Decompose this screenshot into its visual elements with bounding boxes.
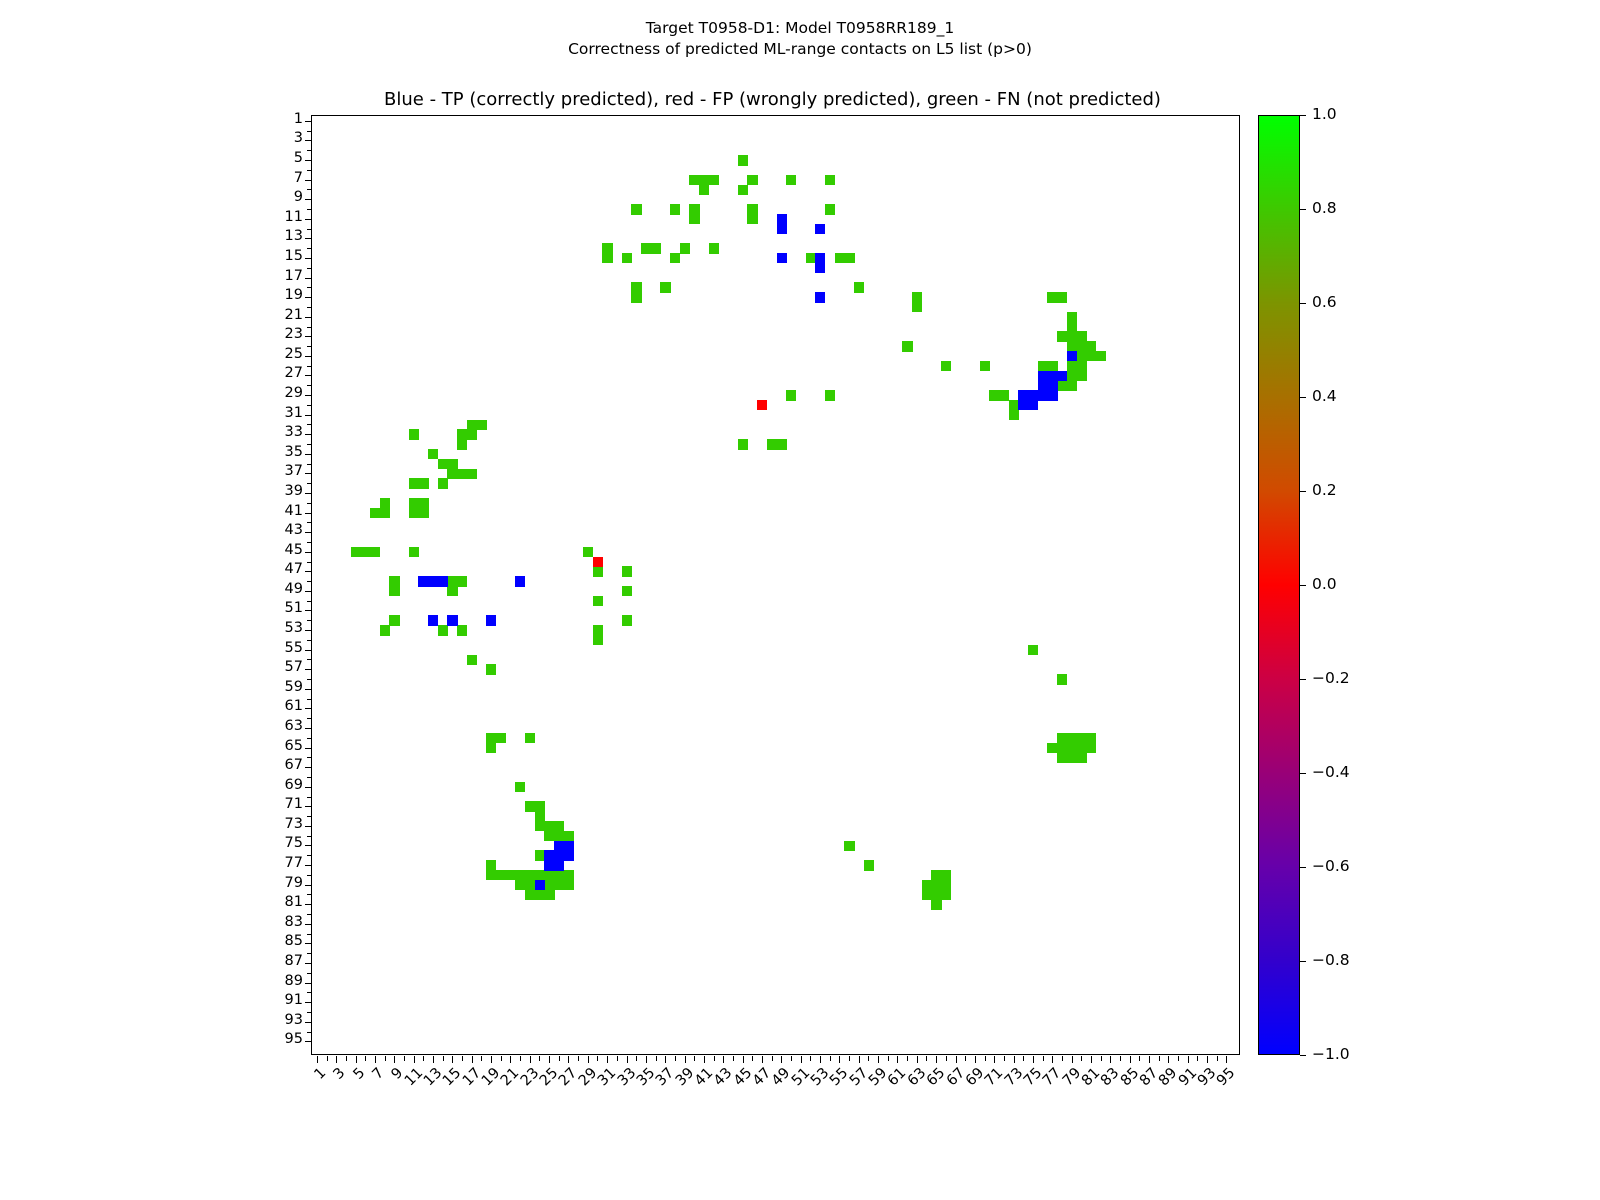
x-tick [1014, 1056, 1015, 1063]
x-tick [1120, 1056, 1121, 1061]
y-tick [305, 336, 312, 337]
x-tick [501, 1056, 502, 1061]
colorbar-tick [1300, 115, 1306, 116]
y-tick [305, 708, 312, 709]
y-tick [305, 1002, 312, 1003]
y-tick [305, 532, 312, 533]
x-tick [1226, 1056, 1227, 1063]
y-tick [305, 806, 312, 807]
cell-fn-green [380, 508, 390, 518]
cell-fn-green [1057, 292, 1067, 302]
y-tick-label: 65 [233, 738, 303, 754]
y-tick [307, 1032, 312, 1033]
x-tick [327, 1056, 328, 1061]
y-tick [307, 855, 312, 856]
y-tick [305, 983, 312, 984]
x-tick [772, 1056, 773, 1061]
cell-tp-blue [486, 615, 496, 625]
x-tick [549, 1056, 550, 1063]
y-tick-label: 95 [233, 1031, 303, 1047]
cell-fn-green [457, 625, 467, 635]
cell-fn-green [689, 214, 699, 224]
colorbar-tick-label: −0.6 [1312, 857, 1350, 875]
x-tick [627, 1056, 628, 1063]
x-tick [665, 1056, 666, 1063]
cell-fn-green [1067, 380, 1077, 390]
cell-tp-blue [815, 292, 825, 302]
y-tick-label: 29 [233, 385, 303, 401]
x-tick [375, 1056, 376, 1063]
y-tick [305, 199, 312, 200]
colorbar: 1.00.80.60.40.20.0−0.2−0.4−0.6−0.8−1.0 [1258, 115, 1300, 1055]
y-tick [307, 953, 312, 954]
y-tick [305, 513, 312, 514]
x-tick [752, 1056, 753, 1061]
cell-fn-green [602, 253, 612, 263]
cell-fn-green [622, 615, 632, 625]
y-tick [307, 914, 312, 915]
y-tick [305, 767, 312, 768]
cell-tp-blue [554, 860, 564, 870]
cell-fn-green [457, 576, 467, 586]
contact-map-figure: Target T0958-D1: Model T0958RR189_1 Corr… [0, 0, 1600, 1200]
cell-fn-green [844, 253, 854, 263]
cell-tp-blue [438, 576, 448, 586]
y-tick-label: 25 [233, 346, 303, 362]
y-tick [305, 1041, 312, 1042]
y-tick [307, 542, 312, 543]
cell-fn-green [1076, 371, 1086, 381]
cell-fn-green [854, 282, 864, 292]
y-tick [307, 581, 312, 582]
y-tick-label: 59 [233, 679, 303, 695]
y-tick-label: 79 [233, 875, 303, 891]
x-tick [568, 1056, 569, 1063]
cell-fn-green [941, 890, 951, 900]
x-tick [956, 1056, 957, 1063]
y-tick [307, 797, 312, 798]
x-tick [510, 1056, 511, 1063]
y-tick [307, 992, 312, 993]
cell-fn-green [864, 860, 874, 870]
x-tick [694, 1056, 695, 1061]
x-tick [1004, 1056, 1005, 1061]
y-tick [305, 748, 312, 749]
y-tick [305, 650, 312, 651]
cell-fn-green [622, 586, 632, 596]
x-tick [1139, 1056, 1140, 1061]
cell-tp-blue [428, 615, 438, 625]
x-tick [607, 1056, 608, 1063]
x-tick [1197, 1056, 1198, 1061]
x-tick [926, 1056, 927, 1061]
y-tick [305, 219, 312, 220]
x-tick [704, 1056, 705, 1063]
x-tick [481, 1056, 482, 1061]
cell-tp-blue [1067, 351, 1077, 361]
y-tick-label: 5 [233, 150, 303, 166]
y-tick-label: 11 [233, 209, 303, 225]
cell-fn-green [651, 243, 661, 253]
cell-tp-blue [777, 224, 787, 234]
cell-fp-red [593, 557, 603, 567]
colorbar-tick [1300, 867, 1306, 868]
colorbar-tick [1300, 961, 1306, 962]
x-tick [656, 1056, 657, 1061]
x-tick [685, 1056, 686, 1063]
x-tick [462, 1056, 463, 1061]
y-tick-label: 23 [233, 326, 303, 342]
x-tick [1188, 1056, 1189, 1063]
y-tick [307, 248, 312, 249]
title-line-1: Target T0958-D1: Model T0958RR189_1 [0, 18, 1600, 39]
x-tick [907, 1056, 908, 1061]
y-tick [307, 894, 312, 895]
y-tick [307, 640, 312, 641]
y-tick-label: 45 [233, 542, 303, 558]
y-tick-label: 7 [233, 170, 303, 186]
y-tick [307, 679, 312, 680]
y-tick [305, 356, 312, 357]
colorbar-tick-label: 0.8 [1312, 199, 1337, 217]
x-tick [1149, 1056, 1150, 1063]
x-tick [404, 1056, 405, 1061]
y-tick-label: 21 [233, 307, 303, 323]
x-tick [1178, 1056, 1179, 1061]
y-tick [305, 140, 312, 141]
x-tick [1130, 1056, 1131, 1063]
cell-fn-green [593, 635, 603, 645]
x-tick [1159, 1056, 1160, 1061]
y-tick-label: 17 [233, 268, 303, 284]
cell-fn-green [409, 547, 419, 557]
y-tick [305, 297, 312, 298]
cell-fn-green [941, 361, 951, 371]
cell-tp-blue [1028, 400, 1038, 410]
x-tick [985, 1056, 986, 1061]
y-tick [307, 209, 312, 210]
y-tick [305, 924, 312, 925]
x-tick [888, 1056, 889, 1061]
x-tick [472, 1056, 473, 1063]
y-tick [307, 307, 312, 308]
x-tick [385, 1056, 386, 1061]
x-tick [539, 1056, 540, 1061]
x-tick [781, 1056, 782, 1063]
cell-fn-green [670, 253, 680, 263]
colorbar-tick-label: 0.0 [1312, 575, 1337, 593]
colorbar-tick [1300, 679, 1306, 680]
y-tick [307, 189, 312, 190]
y-tick-label: 61 [233, 698, 303, 714]
x-tick [1168, 1056, 1169, 1063]
y-tick [305, 845, 312, 846]
y-tick-label: 53 [233, 620, 303, 636]
x-tick [433, 1056, 434, 1063]
y-tick [305, 904, 312, 905]
y-tick [305, 787, 312, 788]
cell-fn-green [844, 841, 854, 851]
y-tick-label: 39 [233, 483, 303, 499]
y-tick [307, 327, 312, 328]
x-tick [878, 1056, 879, 1063]
y-tick [307, 503, 312, 504]
y-tick-label: 83 [233, 914, 303, 930]
cell-fn-green [544, 890, 554, 900]
y-tick-label: 87 [233, 953, 303, 969]
y-tick [305, 121, 312, 122]
plot-area[interactable] [311, 115, 1240, 1055]
y-tick [305, 552, 312, 553]
cell-tp-blue [1047, 390, 1057, 400]
x-tick [723, 1056, 724, 1063]
y-tick [307, 601, 312, 602]
cell-fn-green [1076, 752, 1086, 762]
y-tick [307, 522, 312, 523]
x-tick [491, 1056, 492, 1063]
y-tick [307, 973, 312, 974]
colorbar-tick-label: 0.6 [1312, 293, 1337, 311]
x-tick [1072, 1056, 1073, 1063]
x-tick [839, 1056, 840, 1063]
cell-tp-blue [1057, 371, 1067, 381]
y-tick-label: 31 [233, 405, 303, 421]
y-tick-label: 77 [233, 855, 303, 871]
y-tick-label: 3 [233, 130, 303, 146]
cell-tp-blue [815, 263, 825, 273]
cell-fn-green [747, 214, 757, 224]
x-tick [965, 1056, 966, 1061]
y-tick [305, 180, 312, 181]
x-tick [1091, 1056, 1092, 1063]
cell-fn-green [467, 655, 477, 665]
x-tick [597, 1056, 598, 1061]
x-tick [743, 1056, 744, 1063]
y-tick [307, 346, 312, 347]
cell-fn-green [825, 204, 835, 214]
x-tick [791, 1056, 792, 1061]
cell-fn-green [418, 508, 428, 518]
cell-fn-green [902, 341, 912, 351]
y-tick [305, 493, 312, 494]
y-tick-label: 43 [233, 522, 303, 538]
x-tick [1033, 1056, 1034, 1063]
y-tick [307, 777, 312, 778]
cell-fn-green [467, 469, 477, 479]
cell-fn-green [438, 478, 448, 488]
y-tick-label: 49 [233, 581, 303, 597]
cell-fn-green [389, 615, 399, 625]
cell-fn-green [1028, 645, 1038, 655]
x-tick [520, 1056, 521, 1061]
x-tick [859, 1056, 860, 1063]
x-tick [578, 1056, 579, 1061]
cell-fn-green [709, 243, 719, 253]
cell-fn-green [699, 185, 709, 195]
cell-fn-green [477, 420, 487, 430]
y-tick [307, 170, 312, 171]
y-tick [307, 424, 312, 425]
x-tick [820, 1056, 821, 1063]
colorbar-tick [1300, 773, 1306, 774]
x-tick [617, 1056, 618, 1061]
x-tick [443, 1056, 444, 1061]
cell-fp-red [757, 400, 767, 410]
x-tick [636, 1056, 637, 1061]
title-line-2: Correctness of predicted ML-range contac… [0, 39, 1600, 60]
cell-fn-green [486, 664, 496, 674]
cell-tp-blue [777, 253, 787, 263]
cell-fn-green [380, 625, 390, 635]
cell-fn-green [670, 204, 680, 214]
cell-fn-green [622, 253, 632, 263]
cell-fn-green [486, 743, 496, 753]
cell-fn-green [389, 586, 399, 596]
x-tick [936, 1056, 937, 1063]
cell-fn-green [738, 439, 748, 449]
cell-tp-blue [447, 615, 457, 625]
x-tick [830, 1056, 831, 1061]
y-tick [305, 689, 312, 690]
x-tick [559, 1056, 560, 1061]
cell-fn-green [912, 302, 922, 312]
y-tick-label: 93 [233, 1012, 303, 1028]
x-tick [1052, 1056, 1053, 1063]
cell-fn-green [786, 175, 796, 185]
y-tick [307, 699, 312, 700]
y-tick-label: 69 [233, 777, 303, 793]
cell-fn-green [747, 175, 757, 185]
y-tick [305, 454, 312, 455]
colorbar-tick-label: 0.4 [1312, 387, 1337, 405]
cell-fn-green [457, 439, 467, 449]
cell-tp-blue [535, 880, 545, 890]
colorbar-tick-label: −0.8 [1312, 951, 1350, 969]
y-tick [305, 238, 312, 239]
x-tick [762, 1056, 763, 1063]
y-tick [305, 728, 312, 729]
y-tick-label: 57 [233, 659, 303, 675]
cell-fn-green [825, 390, 835, 400]
x-tick [1110, 1056, 1111, 1063]
y-tick [307, 816, 312, 817]
cell-fn-green [593, 596, 603, 606]
cell-fn-green [825, 175, 835, 185]
x-tick [1081, 1056, 1082, 1061]
heatmap-cells [312, 116, 1239, 1054]
x-tick [356, 1056, 357, 1063]
cell-fn-green [467, 429, 477, 439]
x-tick [1101, 1056, 1102, 1061]
colorbar-tick-label: 0.2 [1312, 481, 1337, 499]
y-tick [307, 934, 312, 935]
cell-fn-green [1086, 743, 1096, 753]
y-tick [307, 483, 312, 484]
x-tick [849, 1056, 850, 1061]
y-tick [307, 131, 312, 132]
y-tick [307, 836, 312, 837]
x-tick [1043, 1056, 1044, 1061]
colorbar-tick-label: −0.4 [1312, 763, 1350, 781]
y-tick [307, 287, 312, 288]
y-tick [307, 620, 312, 621]
y-tick-label: 13 [233, 228, 303, 244]
x-tick [801, 1056, 802, 1063]
colorbar-tick [1300, 1055, 1306, 1056]
y-tick [305, 943, 312, 944]
x-tick [588, 1056, 589, 1063]
cell-fn-green [1009, 410, 1019, 420]
y-tick-label: 89 [233, 973, 303, 989]
y-tick [307, 659, 312, 660]
cell-fn-green [447, 586, 457, 596]
y-tick-label: 73 [233, 816, 303, 832]
y-tick [307, 366, 312, 367]
y-tick [307, 757, 312, 758]
x-tick [1217, 1056, 1218, 1061]
y-tick [305, 395, 312, 396]
colorbar-tick [1300, 303, 1306, 304]
y-tick-label: 63 [233, 718, 303, 734]
y-tick [305, 826, 312, 827]
y-tick [305, 865, 312, 866]
y-tick-label: 91 [233, 992, 303, 1008]
figure-title: Target T0958-D1: Model T0958RR189_1 Corr… [0, 18, 1600, 60]
colorbar-tick [1300, 585, 1306, 586]
y-tick [307, 150, 312, 151]
y-tick [307, 718, 312, 719]
y-tick-label: 35 [233, 444, 303, 460]
cell-fn-green [525, 733, 535, 743]
cell-fn-green [438, 625, 448, 635]
x-tick [897, 1056, 898, 1063]
y-tick-label: 75 [233, 835, 303, 851]
x-tick [365, 1056, 366, 1061]
y-tick [305, 434, 312, 435]
y-tick [305, 669, 312, 670]
y-tick [305, 258, 312, 259]
y-tick [307, 444, 312, 445]
x-tick [675, 1056, 676, 1061]
y-tick-label: 47 [233, 561, 303, 577]
cell-fn-green [515, 782, 525, 792]
x-tick [452, 1056, 453, 1063]
x-tick [530, 1056, 531, 1063]
x-tick [1023, 1056, 1024, 1061]
y-tick-label: 71 [233, 796, 303, 812]
x-tick [733, 1056, 734, 1061]
colorbar-gradient [1258, 115, 1300, 1055]
x-tick [423, 1056, 424, 1061]
colorbar-tick [1300, 397, 1306, 398]
x-tick [975, 1056, 976, 1063]
x-tick [810, 1056, 811, 1061]
cell-tp-blue [515, 576, 525, 586]
cell-fn-green [631, 292, 641, 302]
y-tick [305, 610, 312, 611]
cell-tp-blue [815, 224, 825, 234]
colorbar-tick-label: −0.2 [1312, 669, 1350, 687]
cell-fn-green [738, 155, 748, 165]
cell-fn-green [593, 566, 603, 576]
cell-fn-green [564, 880, 574, 890]
y-tick [305, 885, 312, 886]
y-tick-label: 67 [233, 757, 303, 773]
y-tick [305, 473, 312, 474]
x-tick [1062, 1056, 1063, 1061]
y-tick-label: 19 [233, 287, 303, 303]
cell-tp-blue [564, 850, 574, 860]
